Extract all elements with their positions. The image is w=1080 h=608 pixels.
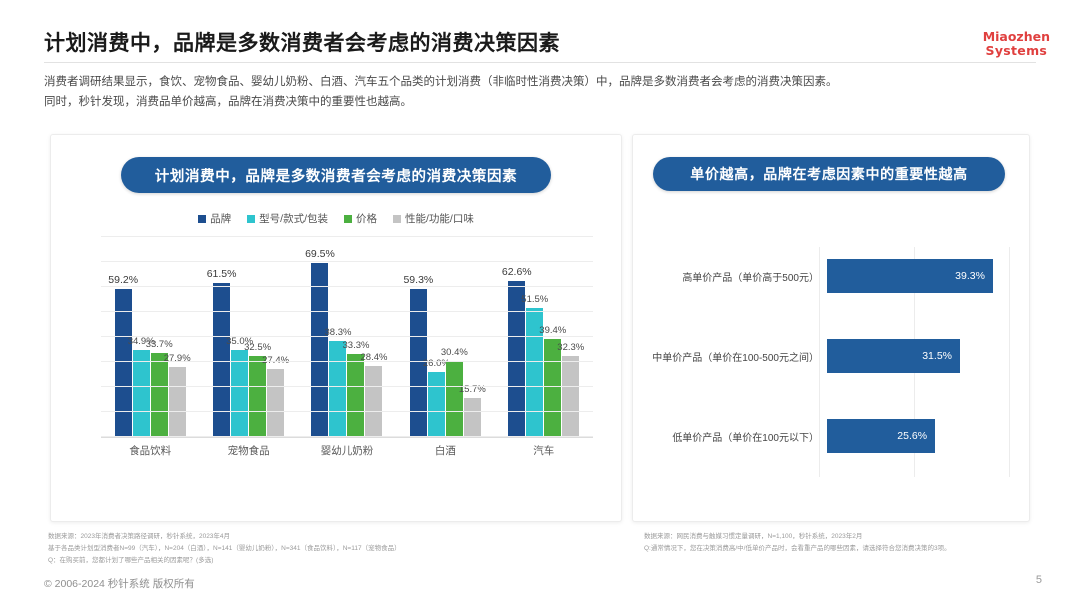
plot-area: 59.2%34.9%33.7%27.9%61.5%35.0%32.5%27.4%…: [101, 237, 593, 438]
page-title: 计划消费中，品牌是多数消费者会考虑的消费决策因素: [44, 30, 944, 57]
right-chart-title: 单价越高，品牌在考虑因素中的重要性越高: [653, 157, 1005, 191]
bar-价格-宠物食品[interactable]: 32.5%: [249, 356, 266, 437]
bar-value-label: 33.3%: [343, 340, 370, 351]
left-footnote-line-1: 数据来源：2023年消费者决策路径调研，秒针系统，2023年4月: [48, 531, 401, 543]
legend-item[interactable]: 价格: [344, 211, 377, 226]
bar-型号/款式/包装-白酒[interactable]: 26.0%: [428, 372, 445, 437]
bar-价格-婴幼儿奶粉[interactable]: 33.3%: [347, 354, 364, 437]
bar-category-label: 高单价产品（单价高于500元）: [647, 269, 827, 284]
legend-label: 型号/款式/包装: [259, 211, 328, 226]
left-chart-title: 计划消费中，品牌是多数消费者会考虑的消费决策因素: [121, 157, 551, 193]
page-subtitle: 消费者调研结果显示，食饮、宠物食品、婴幼儿奶粉、白酒、汽车五个品类的计划消费（非…: [44, 72, 1034, 112]
x-axis-labels: 食品饮料宠物食品婴幼儿奶粉白酒汽车: [101, 443, 593, 458]
bar-value-label: 61.5%: [207, 268, 237, 280]
bar-group: 61.5%35.0%32.5%27.4%: [207, 237, 291, 437]
x-axis-tick-label: 宠物食品: [207, 443, 291, 458]
bar-价格-食品饮料[interactable]: 33.7%: [151, 353, 168, 437]
bar-category-label: 中单价产品（单价在100-500元之间）: [647, 349, 827, 364]
bar-value-label: 51.5%: [521, 294, 548, 305]
page-number: 5: [1036, 574, 1042, 586]
right-footnote-line-2: Q:通常情况下，您在决策消费高/中/低单价产品时，会看重产品的哪些因素，请选择符…: [644, 543, 951, 555]
bar-value-label: 59.3%: [403, 274, 433, 286]
x-axis-tick-label: 白酒: [403, 443, 487, 458]
legend-label: 性能/功能/口味: [405, 211, 474, 226]
bar-型号/款式/包装-婴幼儿奶粉[interactable]: 38.3%: [329, 341, 346, 437]
legend-item[interactable]: 型号/款式/包装: [247, 211, 328, 226]
horizontal-bar-row: 低单价产品（单价在100元以下）25.6%: [647, 419, 1015, 453]
left-footnote-line-3: Q：在购买前，您都计划了哪些产品相关的因素呢？(多选): [48, 555, 401, 567]
gridline: [101, 436, 593, 437]
legend-swatch-icon: [344, 215, 352, 223]
bar-低单价产品（单价在100元以下）[interactable]: 25.6%: [827, 419, 935, 453]
bar-value-label: 25.6%: [897, 430, 927, 442]
gridline: [101, 311, 593, 312]
legend-label: 价格: [356, 211, 377, 226]
legend-swatch-icon: [198, 215, 206, 223]
right-footnote: 数据来源：网民消费与触媒习惯定量调研，N=1,100，秒针系统，2023年2月 …: [644, 531, 951, 555]
x-axis-tick-label: 汽车: [502, 443, 586, 458]
bar-value-label: 27.4%: [262, 355, 289, 366]
bar-value-label: 59.2%: [108, 274, 138, 286]
grouped-bar-chart: 59.2%34.9%33.7%27.9%61.5%35.0%32.5%27.4%…: [79, 237, 599, 475]
bar-group: 69.5%38.3%33.3%28.4%: [305, 237, 389, 437]
bar-性能/功能/口味-白酒[interactable]: 15.7%: [464, 398, 481, 437]
bar-groups: 59.2%34.9%33.7%27.9%61.5%35.0%32.5%27.4%…: [101, 237, 593, 437]
bar-高单价产品（单价高于500元）[interactable]: 39.3%: [827, 259, 993, 293]
copyright-text: © 2006-2024 秒针系统 版权所有: [44, 576, 195, 591]
bar-value-label: 31.5%: [922, 350, 952, 362]
bar-中单价产品（单价在100-500元之间）[interactable]: 31.5%: [827, 339, 960, 373]
gridline: [101, 236, 593, 237]
gridline: [101, 361, 593, 362]
subtitle-line-2: 同时，秒针发现，消费品单价越高，品牌在消费决策中的重要性也越高。: [44, 92, 1034, 112]
bar-型号/款式/包装-食品饮料[interactable]: 34.9%: [133, 350, 150, 437]
gridline: [101, 386, 593, 387]
bar-性能/功能/口味-宠物食品[interactable]: 27.4%: [267, 369, 284, 438]
right-footnote-line-1: 数据来源：网民消费与触媒习惯定量调研，N=1,100，秒针系统，2023年2月: [644, 531, 951, 543]
horizontal-bar-row: 高单价产品（单价高于500元）39.3%: [647, 259, 1015, 293]
right-chart-card: 单价越高，品牌在考虑因素中的重要性越高 高单价产品（单价高于500元）39.3%…: [632, 134, 1030, 522]
legend-swatch-icon: [247, 215, 255, 223]
bar-group: 62.6%51.5%39.4%32.3%: [502, 237, 586, 437]
legend-item[interactable]: 性能/功能/口味: [393, 211, 474, 226]
bar-value-label: 27.9%: [164, 353, 191, 364]
bar-性能/功能/口味-婴幼儿奶粉[interactable]: 28.4%: [365, 366, 382, 437]
bar-category-label: 低单价产品（单价在100元以下）: [647, 429, 827, 444]
logo-line-2: Systems: [983, 44, 1050, 58]
legend-label: 品牌: [210, 211, 231, 226]
gridline: [101, 411, 593, 412]
bar-group: 59.2%34.9%33.7%27.9%: [108, 237, 192, 437]
left-footnote-line-2: 基于各品类计划型消费者N=99（汽车），N=204（白酒），N=141（婴幼儿奶…: [48, 543, 401, 555]
bar-value-label: 62.6%: [502, 266, 532, 278]
gridline: [101, 261, 593, 262]
bar-型号/款式/包装-宠物食品[interactable]: 35.0%: [231, 350, 248, 438]
subtitle-line-1: 消费者调研结果显示，食饮、宠物食品、婴幼儿奶粉、白酒、汽车五个品类的计划消费（非…: [44, 72, 1034, 92]
bar-value-label: 39.3%: [955, 270, 985, 282]
bar-value-label: 32.3%: [557, 342, 584, 353]
slide-header: 计划消费中，品牌是多数消费者会考虑的消费决策因素: [44, 30, 944, 63]
slide: 计划消费中，品牌是多数消费者会考虑的消费决策因素 消费者调研结果显示，食饮、宠物…: [0, 0, 1080, 608]
bar-性能/功能/口味-汽车[interactable]: 32.3%: [562, 356, 579, 437]
horizontal-bar-rows: 高单价产品（单价高于500元）39.3%中单价产品（单价在100-500元之间）…: [647, 247, 1015, 477]
x-axis-tick-label: 食品饮料: [108, 443, 192, 458]
chart-legend: 品牌型号/款式/包装价格性能/功能/口味: [51, 211, 621, 226]
miaozhen-logo: Miaozhen Systems: [983, 30, 1050, 59]
bar-性能/功能/口味-食品饮料[interactable]: 27.9%: [169, 367, 186, 437]
horizontal-bar-chart: 高单价产品（单价高于500元）39.3%中单价产品（单价在100-500元之间）…: [647, 247, 1015, 477]
title-divider: [44, 62, 1036, 63]
gridline: [101, 286, 593, 287]
horizontal-bar-row: 中单价产品（单价在100-500元之间）31.5%: [647, 339, 1015, 373]
bar-value-label: 33.7%: [146, 339, 173, 350]
bar-group: 59.3%26.0%30.4%15.7%: [403, 237, 487, 437]
bar-价格-汽车[interactable]: 39.4%: [544, 339, 561, 438]
logo-line-1: Miaozhen: [983, 30, 1050, 44]
gridline: [101, 336, 593, 337]
bar-value-label: 30.4%: [441, 347, 468, 358]
bar-value-label: 39.4%: [539, 325, 566, 336]
x-axis-tick-label: 婴幼儿奶粉: [305, 443, 389, 458]
bar-价格-白酒[interactable]: 30.4%: [446, 361, 463, 437]
bar-value-label: 69.5%: [305, 248, 335, 260]
legend-item[interactable]: 品牌: [198, 211, 231, 226]
bar-value-label: 32.5%: [244, 342, 271, 353]
left-chart-card: 计划消费中，品牌是多数消费者会考虑的消费决策因素 品牌型号/款式/包装价格性能/…: [50, 134, 622, 522]
legend-swatch-icon: [393, 215, 401, 223]
left-footnote: 数据来源：2023年消费者决策路径调研，秒针系统，2023年4月 基于各品类计划…: [48, 531, 401, 567]
